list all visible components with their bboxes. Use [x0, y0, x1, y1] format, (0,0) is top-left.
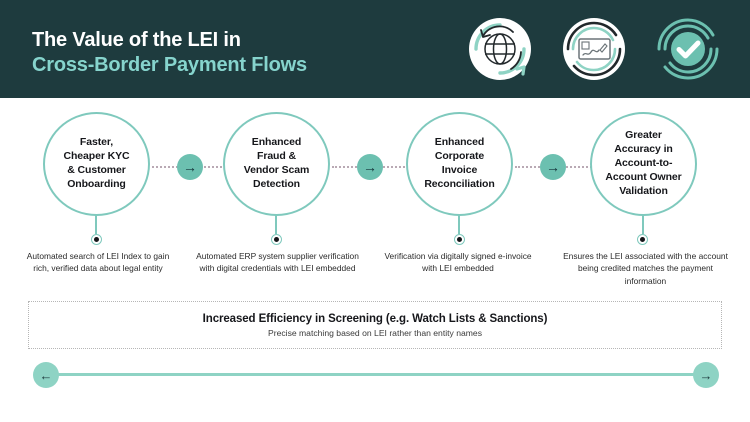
banner-title: Increased Efficiency in Screening (e.g. … — [203, 313, 548, 325]
screening-efficiency-banner: Increased Efficiency in Screening (e.g. … — [28, 301, 722, 349]
title-line-primary: The Value of the LEI in — [32, 28, 307, 53]
header-banner: The Value of the LEI in Cross-Border Pay… — [0, 0, 750, 98]
node-stem-1 — [95, 214, 97, 234]
flow-arrow-icon-2: → — [357, 154, 383, 180]
title-line-secondary: Cross-Border Payment Flows — [32, 53, 307, 78]
flow-node-1[interactable]: Faster,Cheaper KYC& CustomerOnboarding — [43, 112, 150, 216]
banner-subtitle: Precise matching based on LEI rather tha… — [268, 328, 482, 338]
flow-diagram: Faster,Cheaper KYC& CustomerOnboarding E… — [0, 98, 750, 298]
bidirectional-flow-bar: ← → — [33, 362, 719, 388]
flow-bar-line — [47, 373, 705, 376]
node-dot-marker-3 — [454, 234, 465, 245]
flow-node-3-caption: Verification via digitally signed e-invo… — [382, 250, 534, 275]
node-stem-3 — [458, 214, 460, 234]
node-stem-4 — [642, 214, 644, 234]
node-dot-marker-1 — [91, 234, 102, 245]
flow-node-1-label: Faster,Cheaper KYC& CustomerOnboarding — [57, 136, 135, 191]
node-dot-marker-2 — [271, 234, 282, 245]
flow-node-3[interactable]: EnhancedCorporateInvoiceReconciliation — [406, 112, 513, 216]
flow-node-2-caption: Automated ERP system supplier verificati… — [195, 250, 360, 275]
arrow-right-icon[interactable]: → — [693, 362, 719, 388]
node-dot-marker-4 — [637, 234, 648, 245]
flow-node-4-label: GreaterAccuracy inAccount-to-Account Own… — [599, 129, 687, 198]
page-title: The Value of the LEI in Cross-Border Pay… — [32, 28, 307, 78]
flow-node-4-caption: Ensures the LEI associated with the acco… — [557, 250, 734, 287]
flow-arrow-icon-3: → — [540, 154, 566, 180]
flow-node-2[interactable]: EnhancedFraud &Vendor ScamDetection — [223, 112, 330, 216]
e-signature-document-icon — [558, 12, 630, 86]
flow-node-2-label: EnhancedFraud &Vendor ScamDetection — [238, 136, 315, 191]
globe-refresh-icon — [464, 12, 536, 86]
flow-node-1-caption: Automated search of LEI Index to gain ri… — [18, 250, 178, 275]
header-icon-group — [464, 12, 724, 86]
flow-node-3-label: EnhancedCorporateInvoiceReconciliation — [418, 136, 500, 191]
flow-arrow-icon-1: → — [177, 154, 203, 180]
check-circle-icon — [652, 12, 724, 86]
node-stem-2 — [275, 214, 277, 234]
flow-node-4[interactable]: GreaterAccuracy inAccount-to-Account Own… — [590, 112, 697, 216]
